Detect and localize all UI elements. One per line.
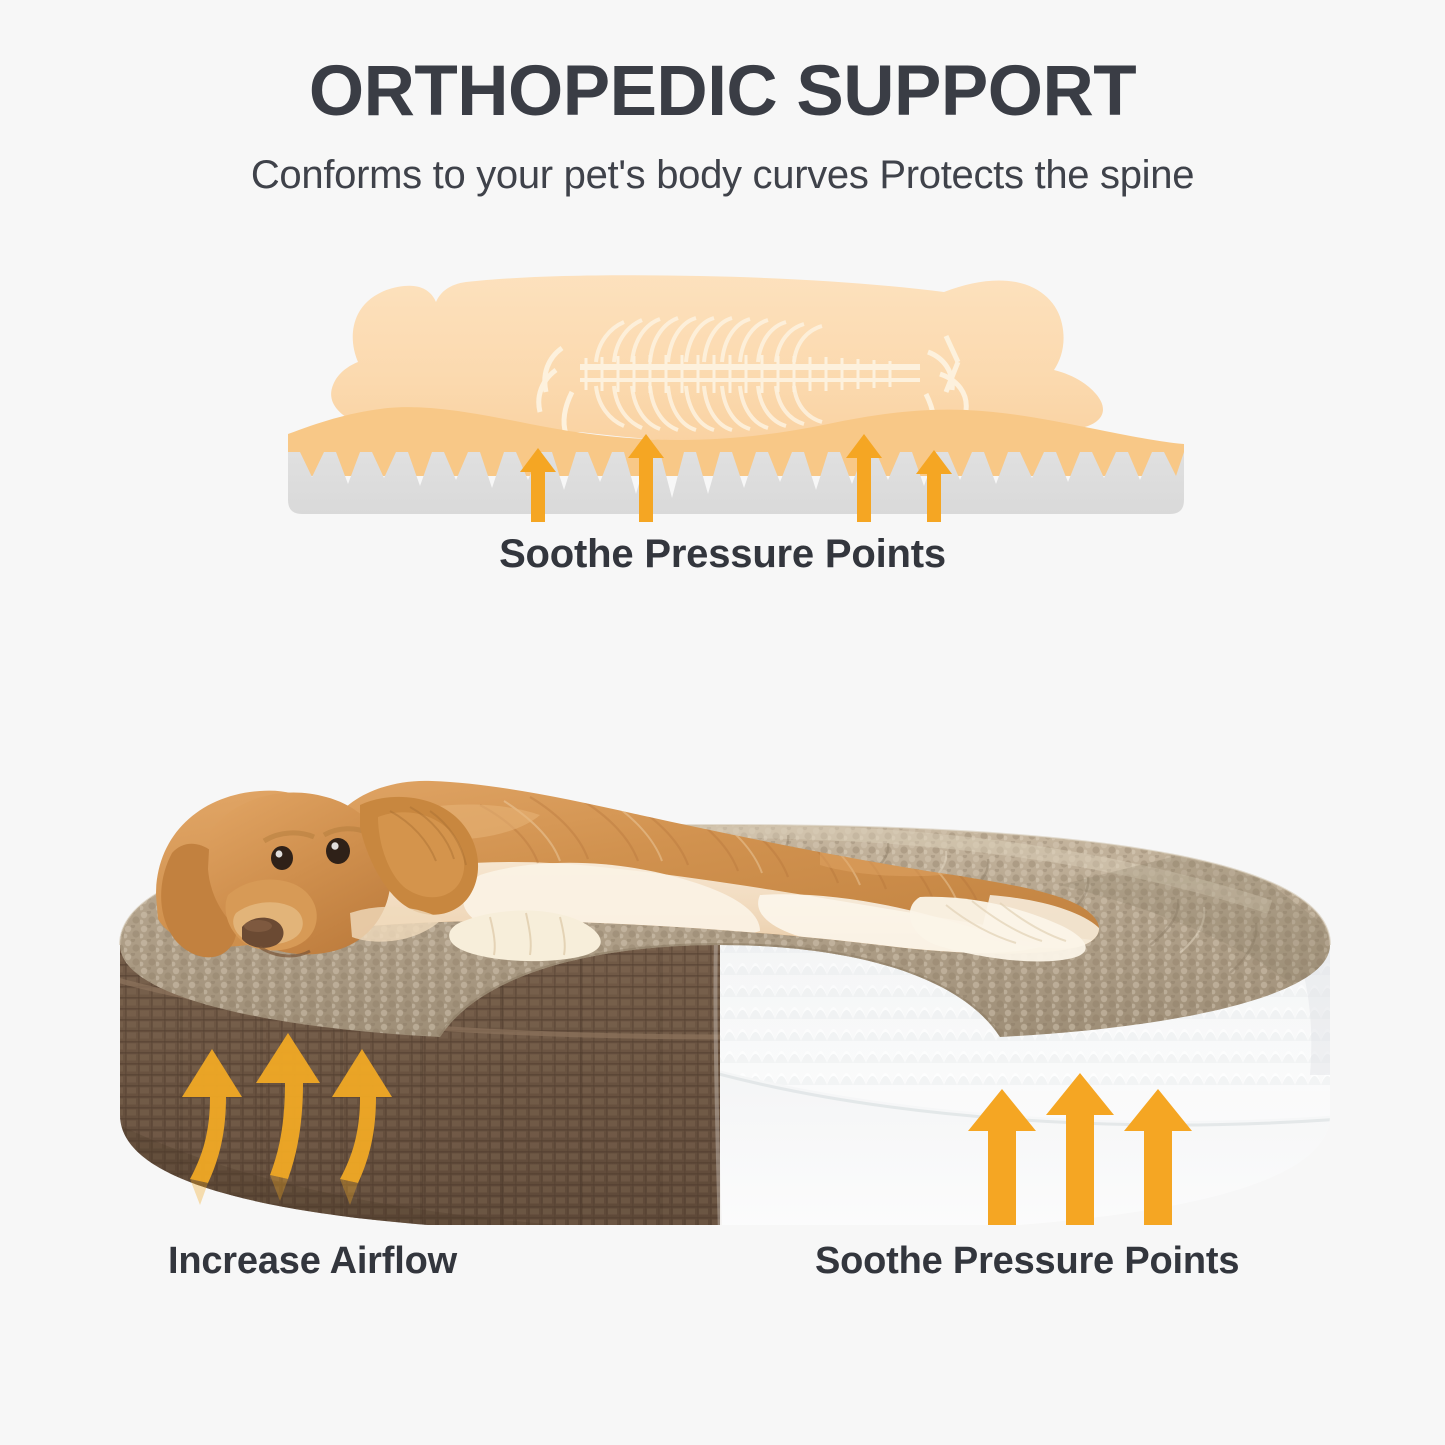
foam-conform-diagram bbox=[280, 262, 1190, 522]
caption-increase-airflow: Increase Airflow bbox=[168, 1240, 457, 1283]
header: ORTHOPEDIC SUPPORT Conforms to your pet'… bbox=[0, 0, 1445, 195]
dog-eye-right bbox=[326, 838, 350, 864]
product-photo bbox=[60, 645, 1390, 1225]
caption-soothe-pressure-points-bottom: Soothe Pressure Points bbox=[815, 1240, 1239, 1283]
infographic-page: ORTHOPEDIC SUPPORT Conforms to your pet'… bbox=[0, 0, 1445, 1445]
bottom-captions: Increase Airflow Soothe Pressure Points bbox=[0, 1240, 1445, 1300]
caption-soothe-pressure-points-top: Soothe Pressure Points bbox=[0, 532, 1445, 577]
dog-eye-left bbox=[271, 846, 293, 870]
pressure-arrows-right bbox=[968, 1073, 1192, 1225]
page-title: ORTHOPEDIC SUPPORT bbox=[0, 56, 1445, 127]
page-subtitle: Conforms to your pet's body curves Prote… bbox=[0, 155, 1445, 195]
